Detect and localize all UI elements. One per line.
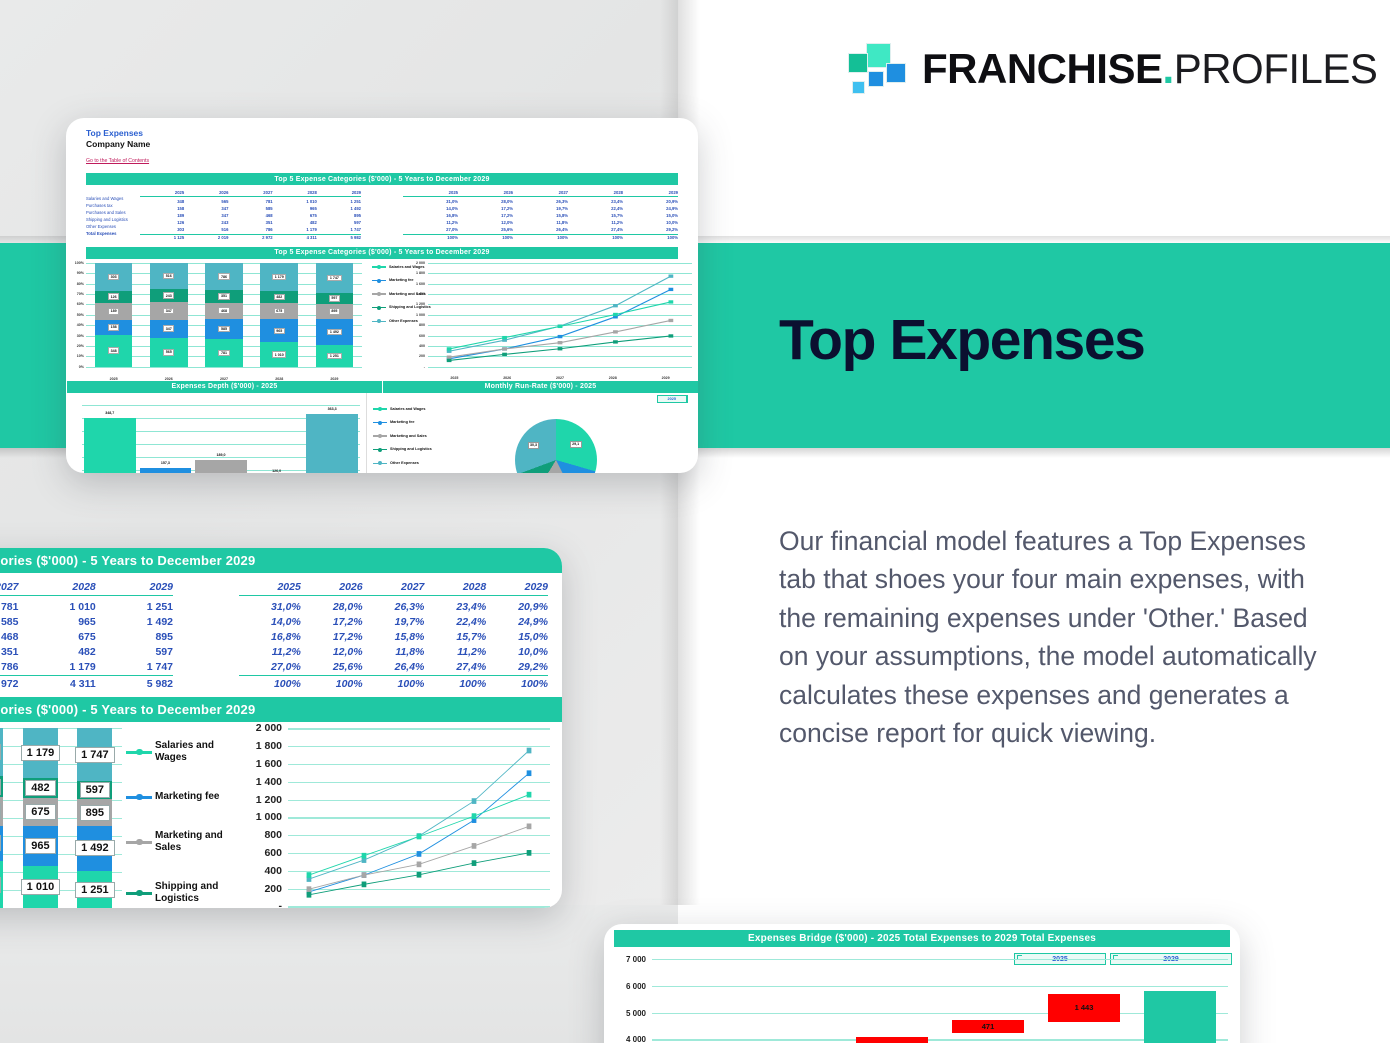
x-axis-tick: 2025 <box>86 377 141 381</box>
legend-marker-icon <box>372 321 386 322</box>
bar-value-label: 157,3 <box>140 461 192 465</box>
bar-value-label: 482 <box>25 780 55 796</box>
x-axis-tick: 2029 <box>307 377 362 381</box>
legend-item: Marketing fee <box>126 791 234 803</box>
legend-item: Marketing fee <box>373 420 432 425</box>
bar-value-label: 1 010 <box>21 879 61 895</box>
bar-value-label: 965 <box>25 838 55 854</box>
data-point <box>613 304 618 307</box>
banner-expense-categories-chart: Top 5 Expense Categories ($'000) - 5 Yea… <box>86 247 678 259</box>
expenses-depth-chart: 348,7157,3189,0126,0363,3 <box>66 393 366 473</box>
bar-segment: 348 <box>95 335 133 367</box>
y-axis-tick: 90% <box>66 271 84 275</box>
table-row: 1583475859651 492 <box>140 206 361 213</box>
bar-segment: 965 <box>23 826 58 866</box>
data-point <box>362 853 367 859</box>
x-axis-tick: 2026 <box>141 377 196 381</box>
legend-marker-icon <box>126 796 152 798</box>
bar-value-label: 1 251 <box>327 353 341 360</box>
bar-value-label: 1 747 <box>327 275 341 282</box>
waterfall-slot <box>748 959 844 1043</box>
y-axis-tick: 1 200 <box>402 302 425 306</box>
y-axis-tick: 2 000 <box>236 722 282 734</box>
legend-item: Salaries and Wages <box>372 265 431 270</box>
bar-value-label: 597 <box>80 782 110 798</box>
x-axis-tick: 2025 <box>428 376 481 380</box>
y-axis-tick: 6 000 <box>606 982 646 991</box>
bar-segment: 1 179 <box>23 728 58 777</box>
legend-item: Marketing and Sales <box>373 434 432 439</box>
data-point <box>613 340 618 343</box>
sheet-subtitle: Company Name <box>86 139 678 150</box>
bar-column: 516243347347565 <box>141 263 196 367</box>
y-axis-tick: 0% <box>66 365 84 369</box>
legend-item: Shipping and Logistics <box>126 881 234 905</box>
bar-column: 1 1794826759651 010 <box>252 263 307 367</box>
bar-value-label: 1 251 <box>75 882 115 898</box>
bar-value-label: 348,7 <box>84 411 136 415</box>
bar-segment: 675 <box>260 303 298 319</box>
y-axis-tick: 4 000 <box>606 1035 646 1043</box>
top-card-chart-pair-2: 348,7157,3189,0126,0363,3 Salaries and W… <box>66 393 698 473</box>
legend-marker-icon <box>126 892 152 894</box>
data-point <box>447 347 452 350</box>
legend-item: Salaries and Wages <box>373 407 432 412</box>
legend-item: Other Expenses <box>373 461 432 466</box>
bar-value-label: 895 <box>329 308 340 315</box>
data-point <box>447 355 452 358</box>
bar-segment: 351 <box>205 290 243 302</box>
bar-segment: 565 <box>150 338 188 367</box>
bar-segment: 1 179 <box>260 263 298 291</box>
table-row: 14,0%17,2%19,7%22,4%24,9% <box>403 206 678 213</box>
x-axis-tick: 2026 <box>481 376 534 380</box>
bar: 363,3 <box>306 414 358 473</box>
legend-marker-icon <box>373 463 387 464</box>
bar-value-label: 597 <box>329 295 340 302</box>
data-point <box>362 873 367 879</box>
y-axis-tick: 400 <box>402 344 425 348</box>
table-header-years-pct: 20252026202720282029 <box>239 581 548 600</box>
data-point <box>527 850 532 856</box>
waterfall-slot <box>1132 959 1228 1043</box>
y-axis-tick: 1 000 <box>236 811 282 823</box>
logo-wordmark: FRANCHISE.PROFILES <box>922 48 1377 90</box>
bar-value-label: 1 179 <box>272 274 286 281</box>
legend-label: Marketing fee <box>155 791 219 803</box>
bar-value-label: 1 747 <box>75 747 115 763</box>
table-row: 11,2%12,0%11,8%11,2%10,0% <box>239 645 548 660</box>
bar-column: 1 7475978951 4921 251 <box>68 728 122 908</box>
legend-label: Salaries and Wages <box>390 407 426 412</box>
top-card-chart-pair: 100%90%80%70%60%50%40%30%20%10%0%3031261… <box>66 259 698 381</box>
bar-segment: 482 <box>260 291 298 303</box>
bar-segment: 516 <box>150 263 188 290</box>
data-point <box>669 300 674 303</box>
legend-marker-icon <box>126 751 152 753</box>
data-point <box>307 873 312 879</box>
y-axis-tick: - <box>402 365 425 369</box>
logo-dot: . <box>1163 45 1174 92</box>
bar-segment: 1 010 <box>23 866 58 908</box>
table-row: 3485657811 0101 251 <box>140 199 361 206</box>
bar-column: 1 7475978951 4921 251 <box>307 263 362 367</box>
table-row: 27,0%25,6%26,4%27,4%29,2% <box>403 227 678 234</box>
bar-value-label: 675 <box>274 308 285 315</box>
data-point <box>472 844 477 850</box>
legend-marker-icon <box>373 422 387 423</box>
y-axis-tick: 1 400 <box>236 776 282 788</box>
page-description: Our financial model features a Top Expen… <box>779 522 1339 753</box>
bar-value-label: 786 <box>218 273 229 280</box>
dashboard-card-waterfall: Expenses Bridge ($'000) - 2025 Total Exp… <box>604 924 1240 1043</box>
stacked-100-chart: 100%90%80%70%60%50%40%30%20%10%0%3031261… <box>66 259 366 381</box>
x-axis-tick: 2028 <box>586 376 639 380</box>
y-axis-tick: 800 <box>402 323 425 327</box>
bar-value-label: 565 <box>163 349 174 356</box>
legend-marker-icon <box>372 293 386 294</box>
bar-value-label: 351 <box>0 779 1 795</box>
bar-segment: 1 010 <box>260 342 298 366</box>
bar-segment: 585 <box>205 319 243 339</box>
data-point <box>502 336 507 339</box>
bar-value-label: 895 <box>80 805 110 821</box>
table-row-labels: Salaries and Wages Purchases tax Purchas… <box>86 190 140 242</box>
table-row: 16,8%17,2%15,8%15,7%15,0% <box>239 630 548 645</box>
table-header-years: 20252026202720282029 <box>140 190 361 199</box>
legend-item: Salaries and Wages <box>126 740 234 764</box>
page-title: Top Expenses <box>779 312 1339 369</box>
data-point <box>472 799 477 805</box>
bar-value-label: 126,0 <box>251 469 303 473</box>
y-axis-tick: 1 400 <box>402 292 425 296</box>
y-axis-tick: 200 <box>236 883 282 895</box>
data-point <box>307 892 312 898</box>
pie-slice-label: 29,1 <box>570 441 582 448</box>
bar-segment: 1 251 <box>316 345 354 367</box>
banner-row-depth-runrate: Expenses Depth ($'000) - 2025 Monthly Ru… <box>66 381 698 393</box>
gridline <box>428 367 692 368</box>
bar-segment: 351 <box>0 776 3 797</box>
bar-value-label: 189 <box>108 308 119 315</box>
bar-segment: 482 <box>23 778 58 798</box>
bar-value-label: 781 <box>0 877 1 893</box>
bar-value-label: 468 <box>0 803 1 819</box>
bar-value-label: 347 <box>163 308 174 315</box>
bar: 157,3 <box>140 468 192 473</box>
bar-segment: 895 <box>316 304 354 320</box>
monthly-runrate-chart: Salaries and WagesMarketing feeMarketing… <box>366 393 698 473</box>
data-point <box>417 852 422 858</box>
bar-segment: 597 <box>316 293 354 303</box>
legend-marker-icon <box>126 841 152 843</box>
table-row: 3475859651 492 <box>0 615 173 630</box>
table-of-contents-link[interactable]: Go to the Table of Contents <box>86 158 149 164</box>
legend-label: Salaries and Wages <box>155 740 234 764</box>
data-point <box>527 792 532 798</box>
bar-segment: 347 <box>150 320 188 338</box>
data-point <box>558 325 563 328</box>
banner-expense-categories-chart-big: Top 5 Expense Categories ($'000) - 5 Yea… <box>0 697 562 722</box>
table-row: 243351482597 <box>0 645 173 660</box>
banner-expenses-bridge: Expenses Bridge ($'000) - 2025 Total Exp… <box>614 930 1230 947</box>
y-axis-tick: 1 600 <box>402 282 425 286</box>
bar-value-label: 675 <box>25 804 55 820</box>
y-axis-tick: 20% <box>66 344 84 348</box>
data-point <box>417 834 422 840</box>
legend-marker-icon <box>372 280 386 281</box>
expense-summary-table: Salaries and Wages Purchases tax Purchas… <box>86 190 678 242</box>
x-axis-tick: 2027 <box>534 376 587 380</box>
data-point <box>558 335 563 338</box>
legend-label: Salaries and Wages <box>389 265 425 270</box>
legend-item: Marketing and Sales <box>126 830 234 854</box>
data-point <box>472 814 477 820</box>
stacked-bar-chart-big: 3031261891583485162433473475657863514685… <box>0 722 122 908</box>
expense-percent-table: 20252026202720282029 31,0%28,0%26,3%23,4… <box>403 190 678 242</box>
data-point <box>362 882 367 888</box>
y-axis-tick: 100% <box>66 261 84 265</box>
bar-segment: 1 747 <box>77 728 112 781</box>
bar-segment: 965 <box>260 319 298 342</box>
y-axis-tick: 40% <box>66 323 84 327</box>
table-row: 27,0%25,6%26,4%27,4%29,2% <box>239 660 548 675</box>
waterfall-bar: 471 <box>952 1020 1025 1034</box>
bar-value-label: 363,3 <box>306 407 358 411</box>
chart-legend-big: Salaries and WagesMarketing feeMarketing… <box>122 722 234 908</box>
gridline <box>86 367 362 368</box>
table-row: 126243351482597 <box>140 220 361 227</box>
bar-value-label: 158 <box>108 324 119 331</box>
bar-segment: 786 <box>0 728 3 776</box>
bar-segment: 189 <box>95 303 133 320</box>
banner-expense-categories: Top 5 Expense Categories ($'000) - 5 Yea… <box>86 173 678 185</box>
bar-value-label: 189,0 <box>195 453 247 457</box>
bar-segment: 303 <box>95 263 133 291</box>
y-axis-tick: 30% <box>66 334 84 338</box>
bar-segment: 158 <box>95 320 133 335</box>
table-row: 3035167861 1791 747 <box>140 227 361 234</box>
x-axis-tick: 2029 <box>639 376 692 380</box>
sheet-title: Top Expenses <box>86 128 678 139</box>
legend-marker-icon <box>373 435 387 436</box>
bar-segment: 347 <box>150 302 188 320</box>
y-axis-tick: - <box>236 900 282 908</box>
y-axis-tick: 50% <box>66 313 84 317</box>
bar-segment: 675 <box>23 798 58 826</box>
y-axis-tick: 1 600 <box>236 758 282 770</box>
banner-monthly-runrate: Monthly Run-Rate ($'000) - 2025 <box>382 381 698 393</box>
y-axis-tick: 800 <box>236 829 282 841</box>
data-point <box>472 861 477 867</box>
table-total-row: 1 1252 0192 9724 3115 982 <box>140 234 361 242</box>
line-series <box>309 751 529 880</box>
bar-value-label: 1 010 <box>272 351 286 358</box>
bar-value-label: 516 <box>163 273 174 280</box>
bar-value-label: 468 <box>218 307 229 314</box>
y-axis-tick: 1 800 <box>236 740 282 752</box>
bar-segment: 126 <box>95 291 133 303</box>
table-header-years: 2026202720282029 <box>0 581 173 600</box>
waterfall-bar: 706 <box>856 1037 929 1043</box>
logo-mark-icon <box>848 41 910 97</box>
banner-expense-categories-big: Top 5 Expense Categories ($'000) - 5 Yea… <box>0 548 562 573</box>
bar-value-label: 347 <box>163 325 174 332</box>
y-axis-tick: 2 000 <box>402 261 425 265</box>
bar-column: 786351468585781 <box>0 728 13 908</box>
bar-segment: 781 <box>0 861 3 908</box>
y-axis-tick: 7 000 <box>606 955 646 964</box>
table-row: 11,2%12,0%11,8%11,2%10,0% <box>403 220 678 227</box>
bar-segment: 1 492 <box>77 826 112 871</box>
x-axis-tick: 2028 <box>252 377 307 381</box>
bar-value-label: 303 <box>108 274 119 281</box>
bar-column: 1 1794826759651 010 <box>13 728 67 908</box>
bar-segment: 895 <box>77 799 112 826</box>
legend-marker-icon <box>373 408 387 409</box>
bar-value-label: 965 <box>274 328 285 335</box>
bar-column: 303126189158348 <box>86 263 141 367</box>
bar-value-label: 585 <box>218 326 229 333</box>
bar-value-label: 585 <box>0 835 1 851</box>
pie-chart: 29,113,115,810,530,3 <box>515 419 597 473</box>
data-point <box>307 887 312 893</box>
y-axis-tick: 60% <box>66 302 84 306</box>
legend-marker-icon <box>372 307 386 308</box>
bar-segment: 1 492 <box>316 319 354 345</box>
bar-segment: 1 251 <box>77 871 112 908</box>
y-axis-tick: 1 200 <box>236 794 282 806</box>
bar-value-label: 1 492 <box>327 329 341 336</box>
bar-segment: 243 <box>150 289 188 301</box>
y-axis-tick: 80% <box>66 282 84 286</box>
banner-expenses-depth: Expenses Depth ($'000) - 2025 <box>66 381 382 393</box>
bar-value-label: 126 <box>108 293 119 300</box>
legend-label: Shipping and Logistics <box>390 447 432 452</box>
table-row: 5657811 0101 251 <box>0 600 173 615</box>
y-axis-tick: 600 <box>236 847 282 859</box>
bar-segment: 585 <box>0 826 3 861</box>
year-tab-chip[interactable]: 2025 <box>657 395 688 403</box>
table-row: 31,0%28,0%26,3%23,4%20,9% <box>403 199 678 206</box>
legend-marker-icon <box>373 449 387 450</box>
legend-item: Shipping and Logistics <box>373 447 432 452</box>
tab-2025[interactable]: 2025 <box>658 396 687 402</box>
table-header-years-pct: 20252026202720282029 <box>403 190 678 199</box>
data-point <box>669 288 674 291</box>
data-point <box>613 330 618 333</box>
table-total-row: 100%100%100%100%100% <box>239 675 548 692</box>
table-row: 5167861 1791 747 <box>0 660 173 675</box>
data-point <box>527 824 532 830</box>
legend-marker-icon <box>372 266 386 267</box>
bar: 348,7 <box>84 418 136 473</box>
bar-value-label: 348 <box>108 347 119 354</box>
line-chart-big: 2 0001 8001 6001 4001 2001 0008006004002… <box>234 722 562 908</box>
legend-label: Shipping and Logistics <box>155 881 234 905</box>
bar-value-label: 243 <box>163 292 174 299</box>
bar-value-label: 781 <box>218 350 229 357</box>
y-axis-tick: 400 <box>236 865 282 877</box>
data-point <box>558 341 563 344</box>
logo-word-franchise: FRANCHISE <box>922 45 1163 92</box>
expense-summary-table-big: 2026202720282029 5657811 0101 251 347585… <box>0 573 562 695</box>
gridline <box>288 906 550 907</box>
bar-value-label: 351 <box>218 293 229 300</box>
table-total-row: 2 0192 9724 3115 982 <box>0 675 173 692</box>
legend-label: Marketing fee <box>390 420 414 425</box>
bar-value-label: 1 179 <box>21 745 61 761</box>
bar-value-label: 471 <box>982 1022 995 1031</box>
waterfall-bar <box>1144 991 1217 1043</box>
table-row: 31,0%28,0%26,3%23,4%20,9% <box>239 600 548 615</box>
legend-label: Other Expenses <box>390 461 419 466</box>
legend-label: Marketing and Sales <box>390 434 427 439</box>
table-row: 347468675895 <box>0 630 173 645</box>
y-axis-tick: 200 <box>402 354 425 358</box>
bar: 189,0 <box>195 460 247 473</box>
y-axis-tick: 600 <box>402 334 425 338</box>
x-axis-tick: 2027 <box>196 377 251 381</box>
bar-segment: 786 <box>205 263 243 290</box>
bar-column: 786351468585781 <box>196 263 251 367</box>
y-axis-tick: 10% <box>66 354 84 358</box>
data-point <box>613 313 618 316</box>
waterfall-slot <box>652 959 748 1043</box>
table-row: 16,8%17,2%15,8%15,7%15,0% <box>403 213 678 220</box>
bar-segment: 468 <box>205 303 243 319</box>
logo-word-profiles: PROFILES <box>1174 45 1378 92</box>
data-point <box>669 319 674 322</box>
bar-value-label: 1 443 <box>1075 1003 1094 1012</box>
data-point <box>417 872 422 878</box>
table-row: 14,0%17,2%19,7%22,4%24,9% <box>239 615 548 630</box>
pie-legend: Salaries and WagesMarketing feeMarketing… <box>373 407 432 473</box>
line-chart-small: Salaries and WagesMarketing feeMarketing… <box>366 259 698 381</box>
dashboard-card-top: Top Expenses Company Name Go to the Tabl… <box>66 118 698 473</box>
data-point <box>502 352 507 355</box>
data-point <box>502 347 507 350</box>
waterfall-slot: 471 <box>940 959 1036 1043</box>
data-point <box>669 334 674 337</box>
data-point <box>527 748 532 754</box>
data-point <box>447 359 452 362</box>
data-point <box>417 862 422 868</box>
waterfall-bar: 1 443 <box>1048 994 1121 1021</box>
pie-slice-label: 30,3 <box>528 442 540 449</box>
waterfall-slot: 706 <box>844 959 940 1043</box>
y-axis-tick: 1 800 <box>402 271 425 275</box>
table-total-row: 100%100%100%100%100% <box>403 234 678 242</box>
bar-value-label: 1 492 <box>75 840 115 856</box>
bar-value-label: 786 <box>0 744 1 760</box>
y-axis-tick: 1 000 <box>402 313 425 317</box>
bar-segment: 1 747 <box>316 263 354 293</box>
legend-label: Marketing and Sales <box>155 830 234 854</box>
table-row: 189347468675895 <box>140 213 361 220</box>
data-point <box>558 347 563 350</box>
bar-segment: 597 <box>77 781 112 799</box>
bar-value-label: 482 <box>274 294 285 301</box>
y-axis-tick: 70% <box>66 292 84 296</box>
data-point <box>527 771 532 777</box>
dashboard-card-bottom-left: Top 5 Expense Categories ($'000) - 5 Yea… <box>0 548 562 908</box>
data-point <box>669 274 674 277</box>
brand-logo: FRANCHISE.PROFILES <box>848 38 1348 100</box>
bar-segment: 781 <box>205 339 243 366</box>
waterfall-slot: 1 443 <box>1036 959 1132 1043</box>
bar-segment: 468 <box>0 797 3 825</box>
